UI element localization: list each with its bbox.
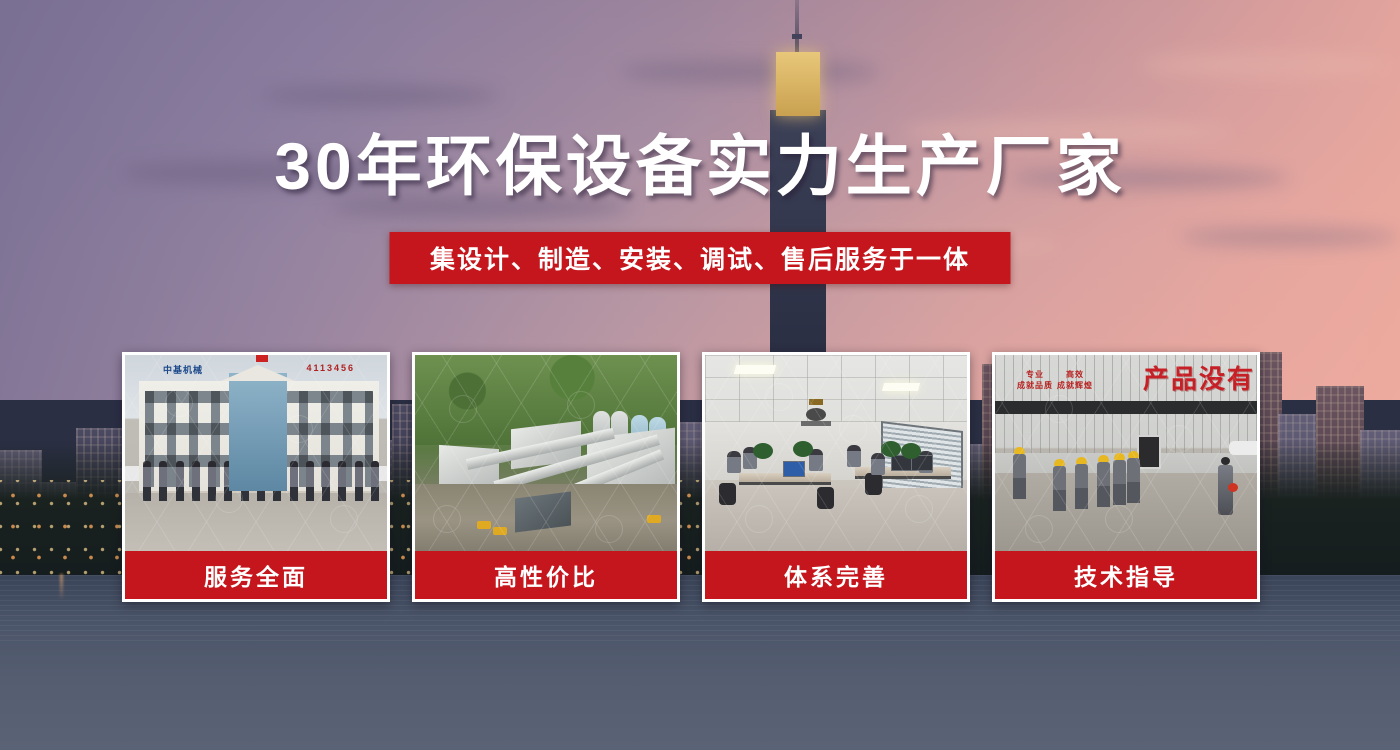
card-caption: 技术指导: [995, 551, 1257, 599]
subtitle-text: 集设计、制造、安装、调试、售后服务于一体: [430, 240, 970, 276]
card-caption: 高性价比: [415, 551, 677, 599]
company-headquarters-photo: 中基机械 4113456: [125, 355, 387, 551]
feature-card-list: 中基机械 4113456 服务全面: [122, 352, 1278, 602]
feature-card[interactable]: 高性价比: [412, 352, 680, 602]
page-title: 30年环保设备实力生产厂家: [0, 133, 1400, 199]
card-caption: 体系完善: [705, 551, 967, 599]
workers-training-photo: 产品没有 专业成就品质 高效成就辉煌: [995, 355, 1257, 551]
building-sign-text: 中基机械: [163, 363, 203, 376]
feature-card[interactable]: 体系完善: [702, 352, 970, 602]
feature-card[interactable]: 中基机械 4113456 服务全面: [122, 352, 390, 602]
feature-card[interactable]: 产品没有 专业成就品质 高效成就辉煌: [992, 352, 1260, 602]
industrial-plant-aerial-photo: [415, 355, 677, 551]
building-phone-text: 4113456: [306, 363, 355, 373]
subtitle-banner: 集设计、制造、安装、调试、售后服务于一体: [390, 232, 1011, 284]
office-interior-photo: [705, 355, 967, 551]
watermark-overlay: [415, 355, 677, 551]
card-caption: 服务全面: [125, 551, 387, 599]
watermark-overlay: [995, 355, 1257, 551]
hero-banner: 30年环保设备实力生产厂家 集设计、制造、安装、调试、售后服务于一体 中基机械 …: [0, 0, 1400, 750]
watermark-overlay: [705, 355, 967, 551]
